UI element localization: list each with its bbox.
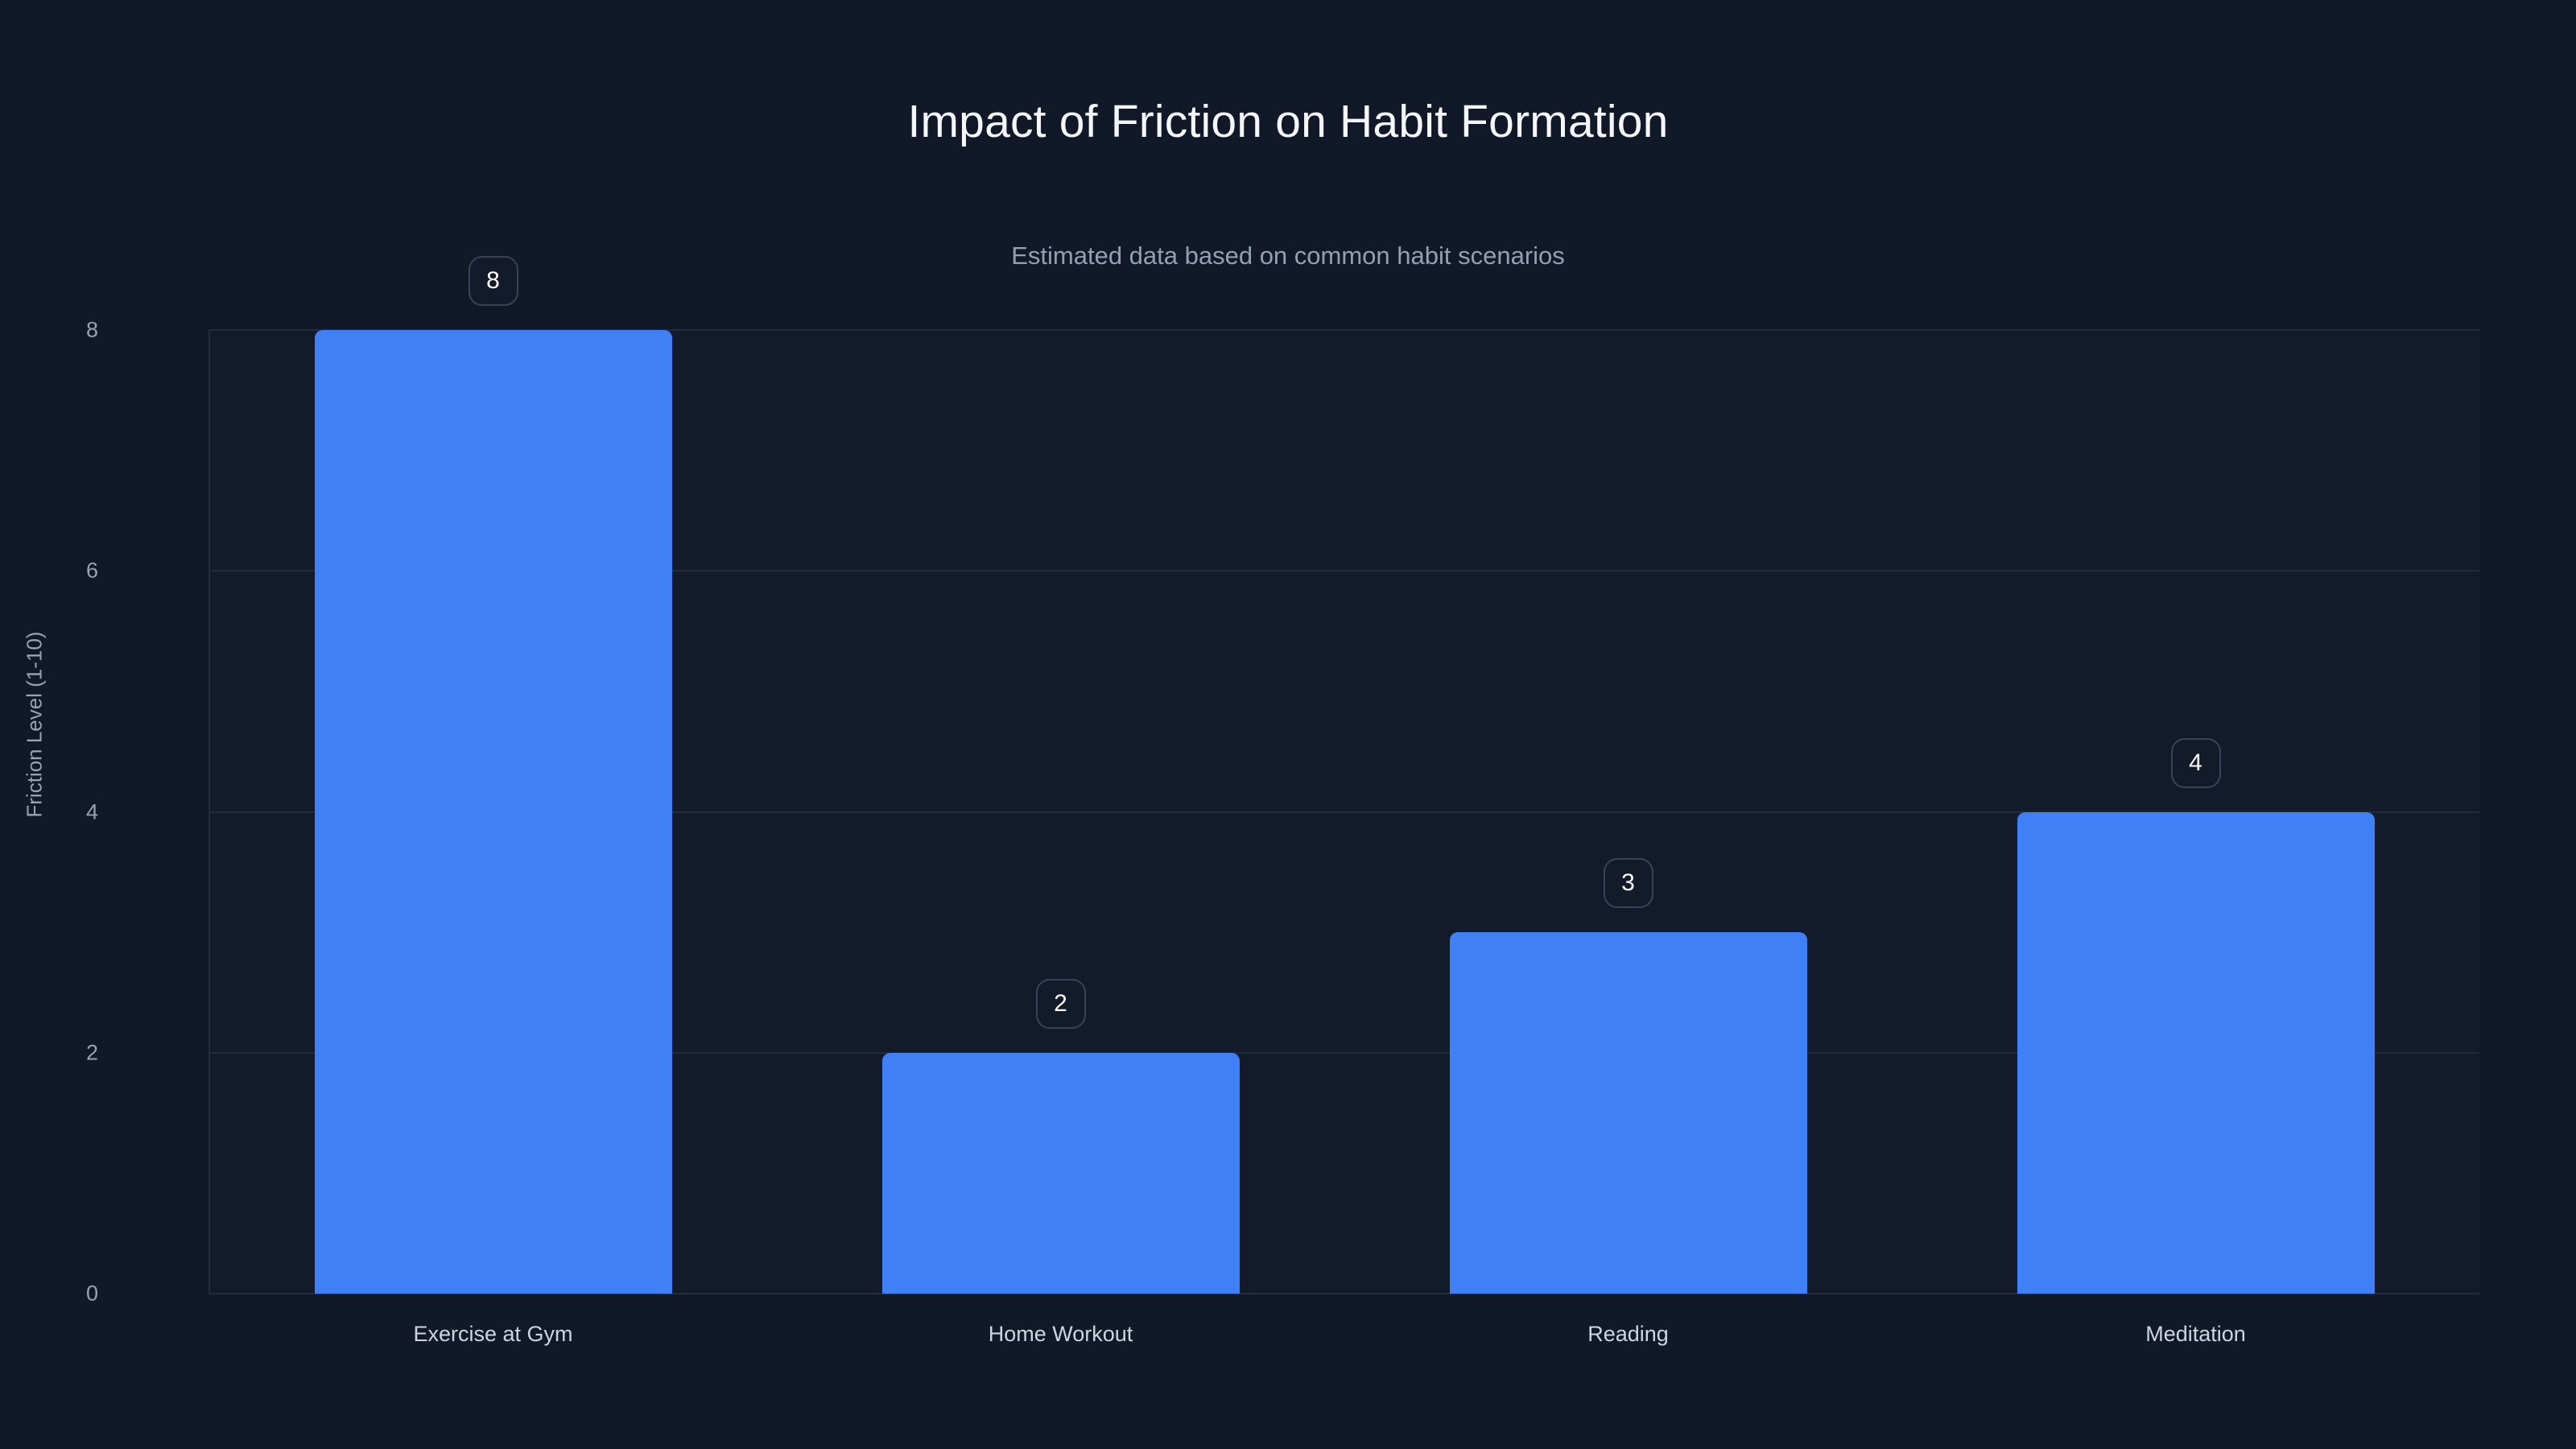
bar[interactable]	[2017, 812, 2375, 1294]
bar[interactable]	[315, 330, 672, 1294]
bar[interactable]	[1450, 932, 1807, 1294]
x-axis-category-label: Home Workout	[989, 1322, 1133, 1347]
y-axis-tick-label: 4	[2, 799, 98, 824]
bar-value-badge: 4	[2171, 738, 2221, 788]
x-axis-category-label: Meditation	[2145, 1322, 2246, 1347]
y-axis-tick-label: 6	[2, 559, 98, 584]
y-axis-tick-label: 0	[2, 1282, 98, 1307]
bar-value-badge: 8	[469, 256, 518, 306]
x-axis-category-label: Exercise at Gym	[413, 1322, 572, 1347]
bar-value-badge: 2	[1036, 979, 1086, 1029]
chart-subtitle: Estimated data based on common habit sce…	[0, 242, 2576, 270]
chart-title: Impact of Friction on Habit Formation	[0, 95, 2576, 148]
x-axis-category-label: Reading	[1587, 1322, 1669, 1347]
y-axis-tick-label: 2	[2, 1040, 98, 1065]
y-axis-tick-label: 8	[2, 318, 98, 343]
bar-value-badge: 3	[1604, 858, 1653, 908]
bar-chart: Impact of Friction on Habit Formation Es…	[0, 0, 2576, 1449]
bar[interactable]	[882, 1053, 1240, 1294]
y-axis-title: Friction Level (1-10)	[23, 563, 47, 885]
